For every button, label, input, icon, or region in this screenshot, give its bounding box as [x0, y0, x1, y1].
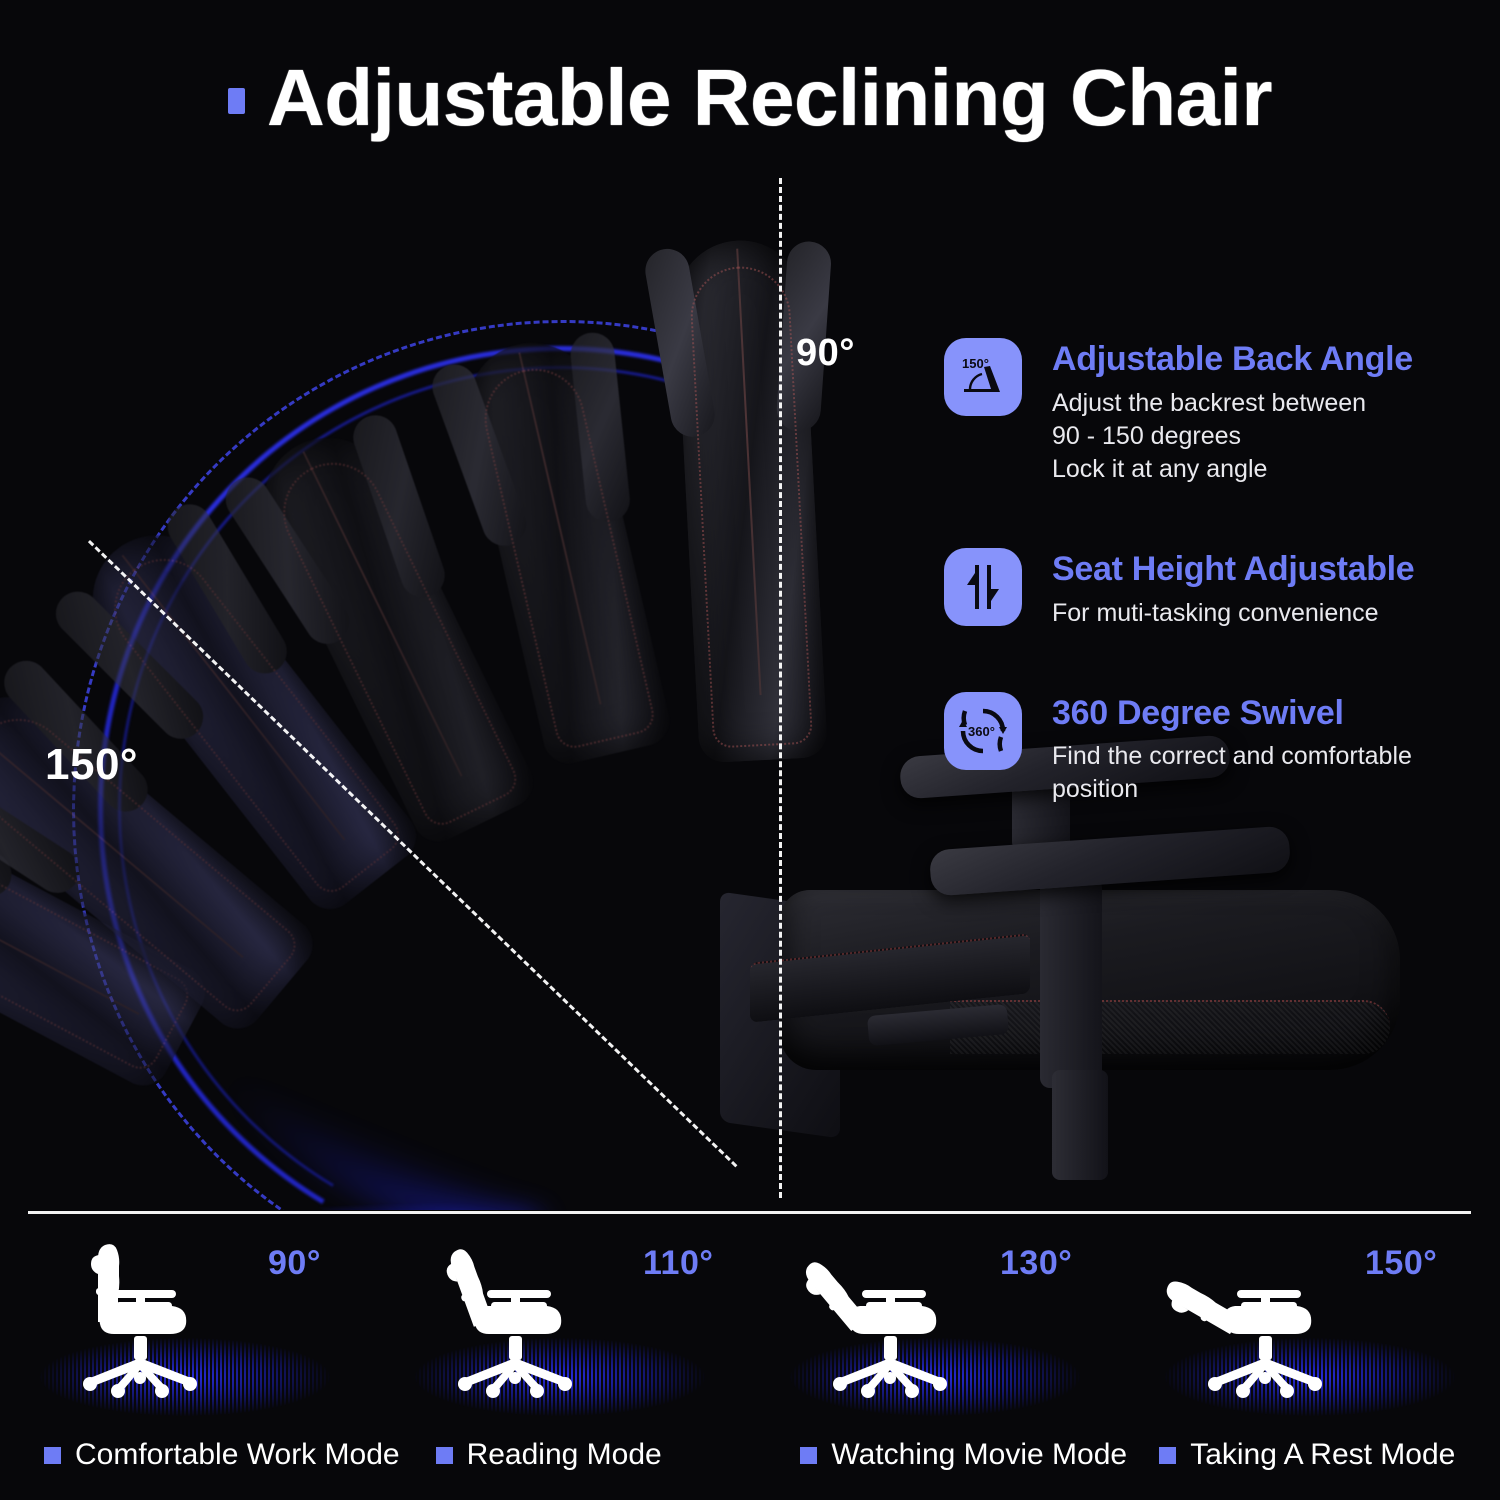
legend-item: Taking A Rest Mode	[1141, 1425, 1500, 1485]
feature-desc: For muti-tasking convenience	[1052, 597, 1414, 630]
feature-title: Adjustable Back Angle	[1052, 340, 1413, 379]
legend-label: Taking A Rest Mode	[1190, 1438, 1455, 1472]
mode-chair-silhouette	[38, 1228, 248, 1408]
feature-seat-height-adjustable: Seat Height Adjustable For muti-tasking …	[944, 548, 1484, 630]
feature-body: Adjustable Back Angle Adjust the backres…	[1052, 338, 1413, 486]
legend-item: Reading Mode	[400, 1425, 777, 1485]
mode-strip: 90° 110°	[0, 1222, 1500, 1412]
mode-cell-110: 110°	[375, 1222, 750, 1412]
backrest-solid-90	[673, 237, 828, 763]
legend-label: Watching Movie Mode	[831, 1438, 1127, 1472]
mode-legend: Comfortable Work ModeReading ModeWatchin…	[0, 1425, 1500, 1485]
feature-desc: Find the correct and comfortable positio…	[1052, 740, 1484, 806]
height-adjust-icon	[944, 548, 1022, 626]
section-divider	[28, 1211, 1471, 1214]
page-title: Adjustable Reclining Chair	[0, 58, 1500, 138]
armrest-post-lower	[1040, 878, 1102, 1088]
angle-label-150: 150°	[45, 740, 138, 790]
guide-line-90	[779, 178, 782, 1198]
legend-label: Reading Mode	[467, 1438, 662, 1472]
mode-chair-silhouette	[413, 1228, 623, 1408]
mode-angle-label: 130°	[1000, 1244, 1072, 1283]
legend-bullet-icon	[800, 1447, 817, 1464]
title-text: Adjustable Reclining Chair	[267, 58, 1272, 138]
recline-angle-icon: 150°	[944, 338, 1022, 416]
mode-angle-label: 110°	[643, 1244, 713, 1283]
title-bullet-icon	[228, 88, 245, 114]
armrest-near	[929, 825, 1291, 896]
legend-label: Comfortable Work Mode	[75, 1438, 400, 1472]
svg-text:360°: 360°	[968, 724, 995, 739]
mode-angle-label: 90°	[268, 1244, 321, 1283]
mode-cell-150: 150°	[1125, 1222, 1500, 1412]
feature-title: Seat Height Adjustable	[1052, 550, 1414, 589]
feature-360-degree-swivel: 360° 360 Degree Swivel Find the correct …	[944, 692, 1484, 807]
legend-bullet-icon	[44, 1447, 61, 1464]
mode-cell-130: 130°	[750, 1222, 1125, 1412]
legend-item: Watching Movie Mode	[776, 1425, 1141, 1485]
infographic-canvas: Adjustable Reclining Chair	[0, 0, 1500, 1500]
mode-chair-silhouette	[1163, 1228, 1373, 1408]
feature-title: 360 Degree Swivel	[1052, 694, 1484, 733]
mode-angle-label: 150°	[1365, 1244, 1437, 1283]
gas-lift-cylinder	[1052, 1070, 1108, 1180]
feature-adjustable-back-angle: 150° Adjustable Back Angle Adjust the ba…	[944, 338, 1484, 486]
legend-item: Comfortable Work Mode	[0, 1425, 400, 1485]
legend-bullet-icon	[436, 1447, 453, 1464]
mode-chair-silhouette	[788, 1228, 998, 1408]
feature-body: 360 Degree Swivel Find the correct and c…	[1052, 692, 1484, 807]
feature-list: 150° Adjustable Back Angle Adjust the ba…	[944, 338, 1484, 806]
legend-bullet-icon	[1159, 1447, 1176, 1464]
swivel-360-icon: 360°	[944, 692, 1022, 770]
mode-cell-90: 90°	[0, 1222, 375, 1412]
angle-label-90: 90°	[796, 332, 855, 375]
feature-body: Seat Height Adjustable For muti-tasking …	[1052, 548, 1414, 630]
feature-desc: Adjust the backrest between 90 - 150 deg…	[1052, 387, 1413, 486]
